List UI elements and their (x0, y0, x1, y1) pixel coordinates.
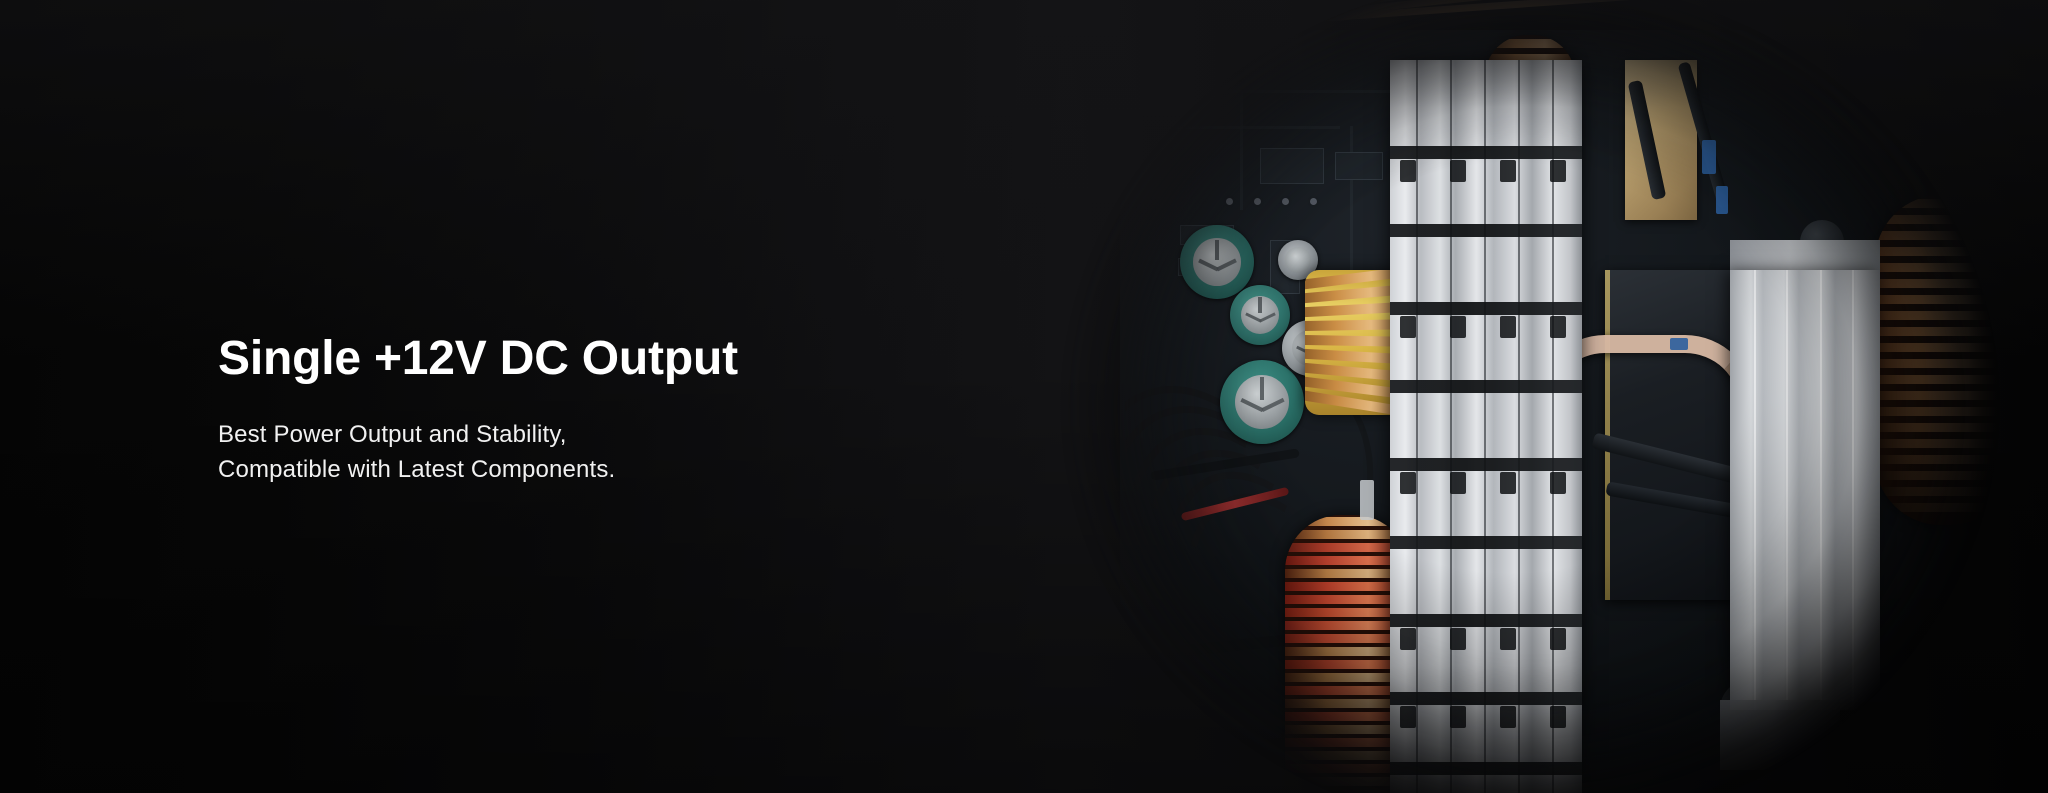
capacitor (1180, 225, 1254, 299)
blue-component (1716, 186, 1728, 214)
subtitle-line-2: Compatible with Latest Components. (218, 452, 978, 487)
promo-banner: REPLACE FUSE WITH SAME TYPE AND RATING C… (0, 0, 2048, 793)
center-heatsink (1390, 60, 1582, 793)
capacitor (1220, 360, 1304, 444)
right-heatsink-bottom (1720, 700, 1840, 770)
photo-canvas: REPLACE FUSE WITH SAME TYPE AND RATING C… (1030, 0, 2030, 793)
subtitle-line-1: Best Power Output and Stability, (218, 417, 978, 452)
small-toroidal-inductor (1030, 0, 1110, 12)
right-heatsink-top (1730, 240, 1880, 274)
capacitor (1230, 285, 1290, 345)
blue-component (1670, 338, 1688, 350)
right-heatsink (1730, 270, 1880, 710)
copy-block: Single +12V DC Output Best Power Output … (218, 330, 978, 487)
white-component (1360, 480, 1374, 520)
psu-internals-photo: REPLACE FUSE WITH SAME TYPE AND RATING C… (1030, 0, 2030, 793)
subtitle: Best Power Output and Stability, Compati… (218, 388, 978, 487)
copper-toroidal-inductor-right (1875, 195, 2015, 525)
blue-component (1702, 140, 1716, 174)
page-title: Single +12V DC Output (218, 330, 978, 388)
